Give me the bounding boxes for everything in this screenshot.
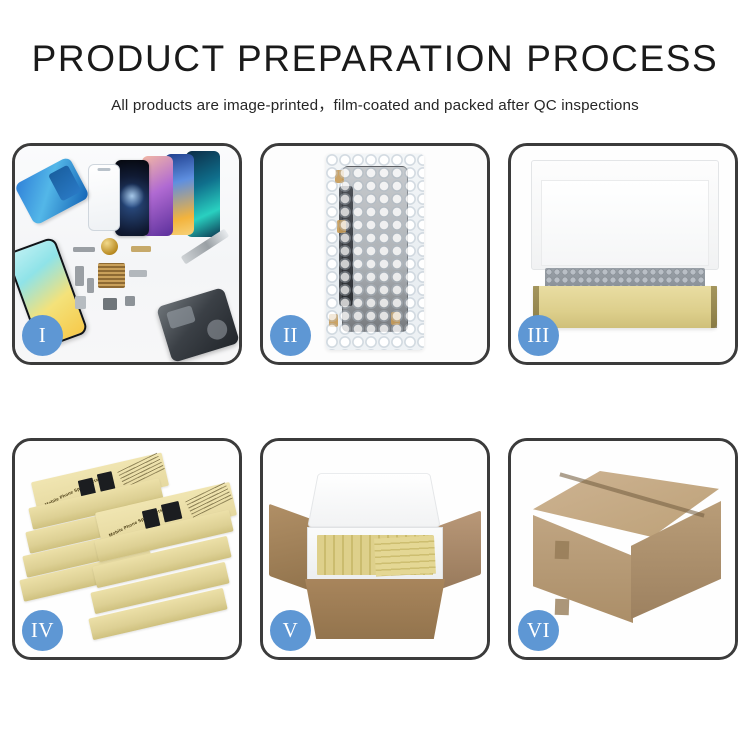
step-badge-6: VI [518, 610, 559, 651]
process-step-panel-4: Mobile Phone Spare Parts Mobile Phone Sp… [12, 438, 242, 660]
carton-tape-patch-1 [555, 541, 570, 559]
speaker-icon [103, 298, 117, 310]
adhesive-tab-4-icon [391, 312, 400, 325]
carton-tape-patch-2 [555, 599, 570, 615]
adhesive-tab-3-icon [329, 314, 338, 327]
adhesive-tab-2-icon [337, 220, 346, 233]
kraft-box-tray [533, 286, 717, 328]
small-part-icon [75, 266, 84, 286]
foam-lid [307, 473, 440, 527]
process-step-panel-1: I [12, 143, 242, 365]
header: PRODUCT PREPARATION PROCESS All products… [0, 0, 750, 115]
chip-array-icon [98, 263, 125, 288]
small-part-2-icon [87, 278, 94, 293]
flex-cable-icon [131, 246, 151, 252]
step-badge-1: I [22, 315, 63, 356]
flex-cable-strip [339, 186, 353, 306]
sim-tray-icon [75, 296, 86, 309]
process-step-grid: I II III [12, 143, 738, 660]
connector-chip-icon [73, 247, 95, 252]
screen-protector-icon [88, 164, 120, 231]
process-step-panel-6: VI [508, 438, 738, 660]
packed-retail-boxes-2 [374, 535, 436, 576]
process-step-panel-2: II [260, 143, 490, 365]
white-foam-sheet [541, 180, 709, 266]
process-step-panel-5: V [260, 438, 490, 660]
page-title: PRODUCT PREPARATION PROCESS [0, 38, 750, 80]
page-subtitle: All products are image-printed，film-coat… [0, 93, 750, 115]
small-part-3-icon [129, 270, 147, 277]
camera-module-icon [125, 296, 135, 306]
process-step-panel-3: III [508, 143, 738, 365]
step-badge-5: V [270, 610, 311, 651]
gold-component-icon [101, 238, 118, 255]
step-badge-2: II [270, 315, 311, 356]
phone-dark-screen-icon [115, 160, 149, 236]
adhesive-tab-1-icon [335, 170, 344, 183]
carton-front-face [533, 515, 633, 623]
step-badge-4: IV [22, 610, 63, 651]
step-badge-3: III [518, 315, 559, 356]
carton-body [305, 579, 445, 639]
box-window-4 [161, 501, 183, 523]
product-preparation-infographic: PRODUCT PREPARATION PROCESS All products… [0, 0, 750, 750]
